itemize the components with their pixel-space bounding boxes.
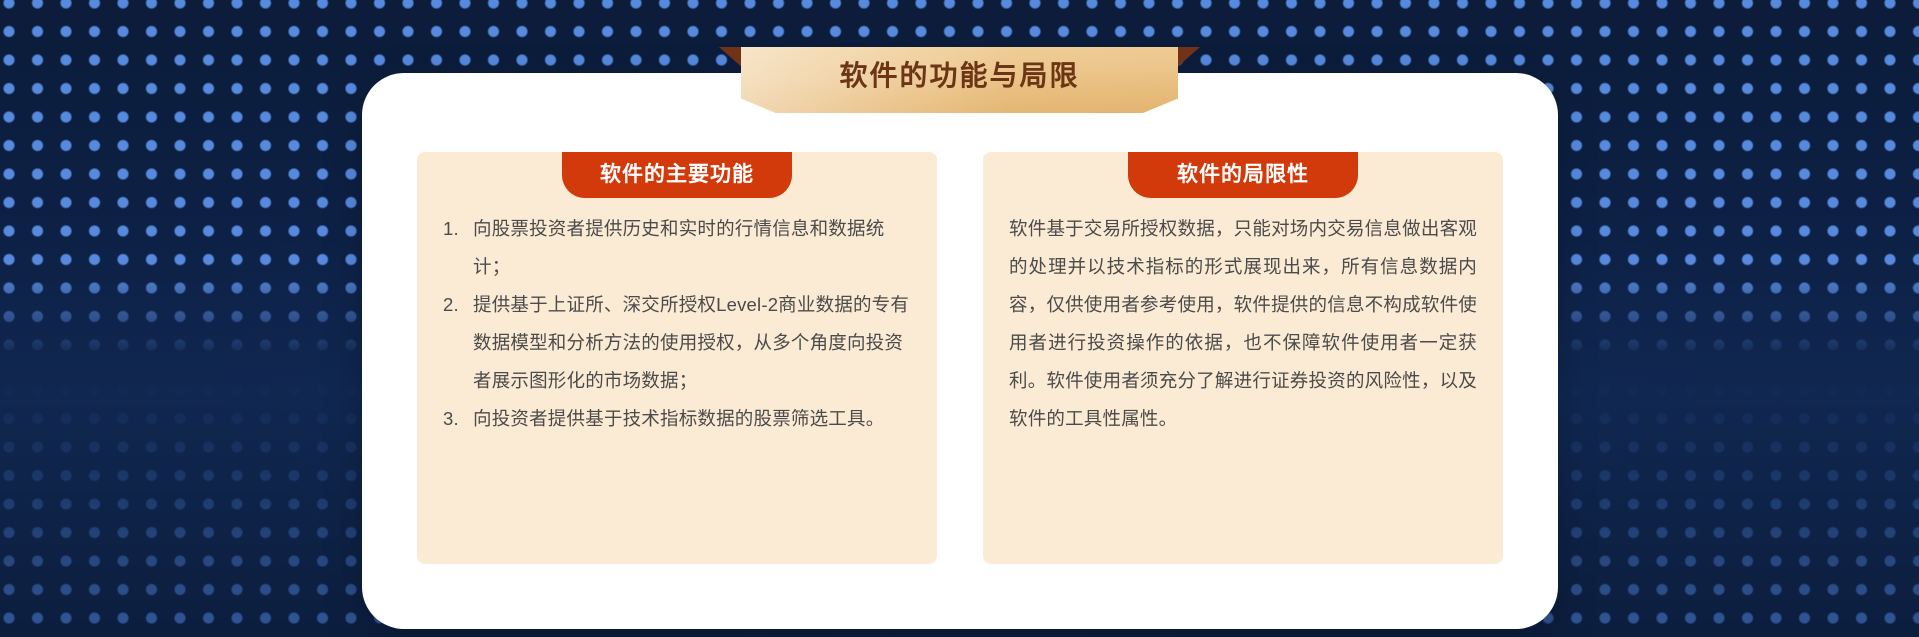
card-limitations: 软件的局限性 软件基于交易所授权数据，只能对场内交易信息做出客观的处理并以技术指… xyxy=(983,152,1503,564)
feature-list: 向股票投资者提供历史和实时的行情信息和数据统计； 提供基于上证所、深交所授权Le… xyxy=(443,210,911,438)
cards-row: 软件的主要功能 向股票投资者提供历史和实时的行情信息和数据统计； 提供基于上证所… xyxy=(362,152,1558,564)
list-item: 提供基于上证所、深交所授权Level-2商业数据的专有数据模型和分析方法的使用授… xyxy=(443,286,911,400)
page-title: 软件的功能与局限 xyxy=(741,47,1178,105)
card-header-main-features: 软件的主要功能 xyxy=(562,152,792,198)
card-main-features: 软件的主要功能 向股票投资者提供历史和实时的行情信息和数据统计； 提供基于上证所… xyxy=(417,152,937,564)
card-header-limitations: 软件的局限性 xyxy=(1128,152,1358,198)
ribbon-banner: 软件的功能与局限 xyxy=(719,40,1200,98)
list-item: 向股票投资者提供历史和实时的行情信息和数据统计； xyxy=(443,210,911,286)
limitations-paragraph: 软件基于交易所授权数据，只能对场内交易信息做出客观的处理并以技术指标的形式展现出… xyxy=(1009,210,1477,438)
list-item: 向投资者提供基于技术指标数据的股票筛选工具。 xyxy=(443,400,911,438)
